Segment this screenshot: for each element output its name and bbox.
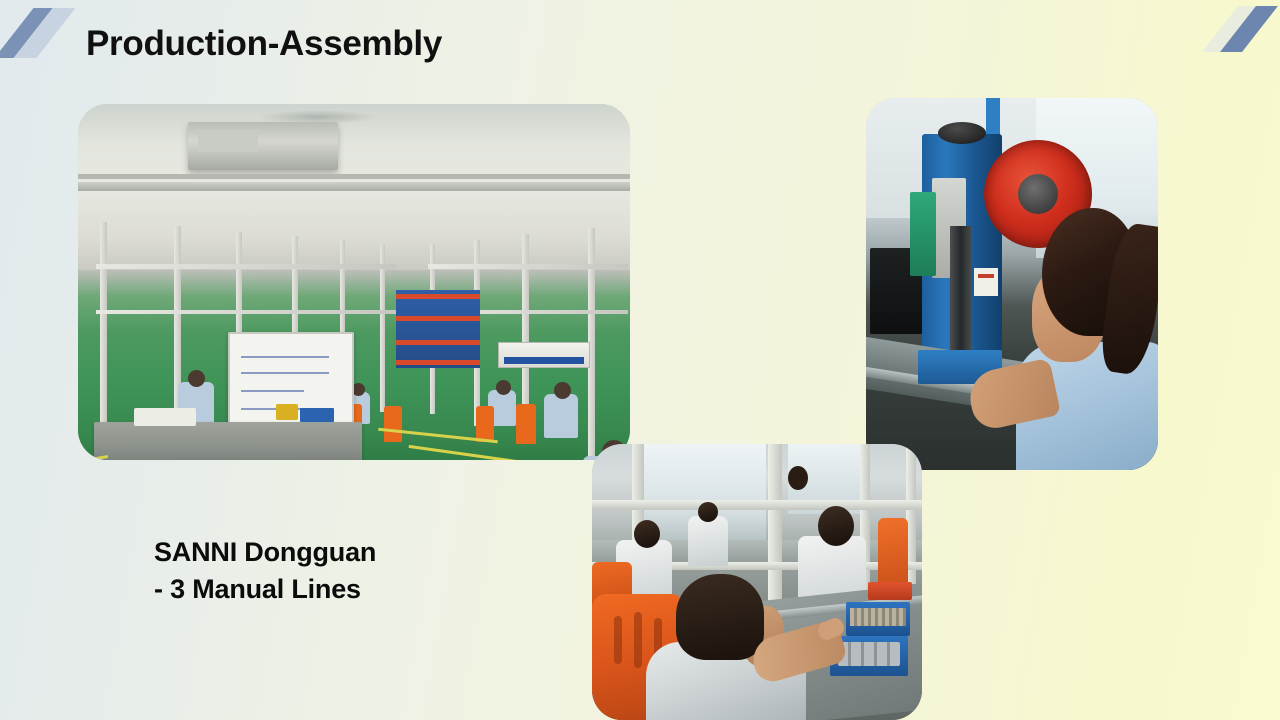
ceiling-duct — [78, 182, 630, 191]
caption-line-2: - 3 Manual Lines — [154, 571, 376, 608]
frame-rail — [96, 264, 396, 269]
caption-line-1: SANNI Dongguan — [154, 534, 376, 571]
parts-bin — [300, 408, 334, 422]
whiteboard-line — [241, 390, 304, 392]
worker-head — [634, 520, 660, 548]
parts-tray — [846, 602, 910, 636]
green-guard-panel — [910, 192, 936, 276]
worker-head — [554, 382, 571, 399]
foreground-worker-head — [676, 574, 764, 660]
photo-factory-hall — [78, 104, 630, 460]
back-wall — [78, 192, 630, 270]
frame-rail — [428, 264, 628, 269]
production-line-sign — [498, 342, 590, 368]
shelf-level — [396, 316, 480, 321]
bench-assembly-scene — [592, 444, 922, 720]
photo-bench-assembly — [592, 444, 922, 720]
paper-stack — [134, 408, 196, 426]
crimping-scene — [866, 98, 1158, 470]
chair-slot — [634, 612, 642, 668]
metal-components — [838, 642, 900, 666]
machine-label — [974, 268, 998, 296]
machine-label-stripe — [978, 274, 994, 278]
chair-slot — [614, 616, 622, 664]
worker-head — [188, 370, 205, 387]
photo-crimping-operator — [866, 98, 1158, 470]
frame-post — [100, 222, 107, 452]
yellow-tool — [276, 404, 298, 420]
whiteboard-line — [241, 372, 329, 374]
top-left-logo-icon — [6, 8, 62, 58]
shelf-level — [396, 360, 480, 365]
shelf-level — [396, 294, 480, 299]
frame-rail — [592, 500, 922, 510]
operator-chair — [516, 404, 536, 444]
tray-contents — [850, 608, 906, 626]
worker-head — [496, 380, 511, 395]
top-right-logo-icon — [1214, 6, 1270, 52]
worker-head — [788, 466, 808, 490]
factory-hall-scene — [78, 104, 630, 460]
frame-post — [768, 444, 782, 604]
ceiling-beam — [78, 174, 630, 179]
worker-body — [688, 516, 728, 566]
air-conditioner-unit — [188, 122, 338, 170]
page-title: Production-Assembly — [86, 24, 442, 64]
operator-chair — [476, 406, 494, 442]
shelf-level — [396, 340, 480, 345]
operator-chair — [384, 406, 402, 442]
worker-body — [544, 394, 578, 438]
slide-canvas: Production-Assembly — [0, 0, 1280, 720]
caption-block: SANNI Dongguan - 3 Manual Lines — [154, 534, 376, 609]
machine-knob — [938, 122, 986, 144]
parts-shelf-rack — [396, 290, 480, 368]
worker-head — [698, 502, 718, 522]
worker-head — [818, 506, 854, 546]
workbench-top — [94, 422, 362, 460]
whiteboard-line — [241, 356, 329, 358]
parts-bin — [868, 582, 912, 600]
press-ram — [950, 226, 972, 366]
floor-marking — [409, 445, 568, 460]
frame-post — [380, 244, 385, 412]
ac-grille — [198, 130, 258, 152]
frame-rail — [96, 310, 396, 314]
reel-hub — [1018, 174, 1058, 214]
